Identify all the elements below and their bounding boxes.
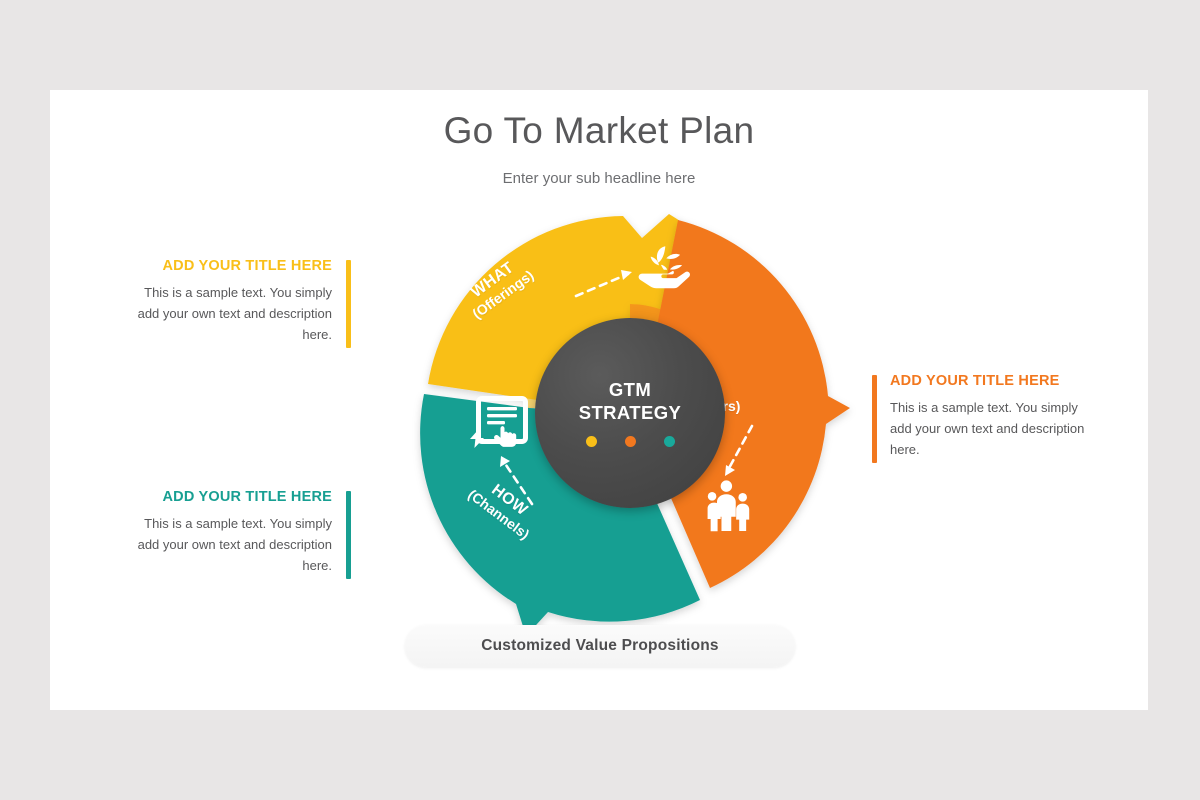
callout-who[interactable]: ADD YOUR TITLE HERE This is a sample tex… <box>890 373 1090 461</box>
center-hub-dots <box>586 436 675 447</box>
callout-what[interactable]: ADD YOUR TITLE HERE This is a sample tex… <box>132 258 332 346</box>
callout-how-heading: ADD YOUR TITLE HERE <box>132 489 332 506</box>
footer-banner[interactable]: Customized Value Propositions <box>405 625 795 667</box>
page-subtitle: Enter your sub headline here <box>50 170 1148 187</box>
page-title: Go To Market Plan <box>50 110 1148 152</box>
center-hub-text: GTM STRATEGY <box>579 379 682 424</box>
gtm-wheel-diagram: WHAT (Offerings) WHO (Customers) HOW (Ch… <box>380 208 860 628</box>
footer-banner-label: Customized Value Propositions <box>481 637 718 655</box>
dot-teal-icon <box>664 436 675 447</box>
center-hub-line1: GTM <box>609 379 651 400</box>
center-hub[interactable]: GTM STRATEGY <box>535 318 725 508</box>
callout-how[interactable]: ADD YOUR TITLE HERE This is a sample tex… <box>132 489 332 577</box>
callout-what-heading: ADD YOUR TITLE HERE <box>132 258 332 275</box>
callout-who-accent-bar <box>872 375 877 463</box>
callout-who-body: This is a sample text. You simply add yo… <box>890 397 1090 460</box>
callout-how-accent-bar <box>346 491 351 579</box>
center-hub-line2: STRATEGY <box>579 402 682 423</box>
dot-yellow-icon <box>586 436 597 447</box>
callout-what-body: This is a sample text. You simply add yo… <box>132 282 332 345</box>
slide-canvas: Go To Market Plan Enter your sub headlin… <box>50 90 1148 710</box>
callout-what-accent-bar <box>346 260 351 348</box>
callout-how-body: This is a sample text. You simply add yo… <box>132 513 332 576</box>
dot-orange-icon <box>625 436 636 447</box>
callout-who-heading: ADD YOUR TITLE HERE <box>890 373 1090 390</box>
